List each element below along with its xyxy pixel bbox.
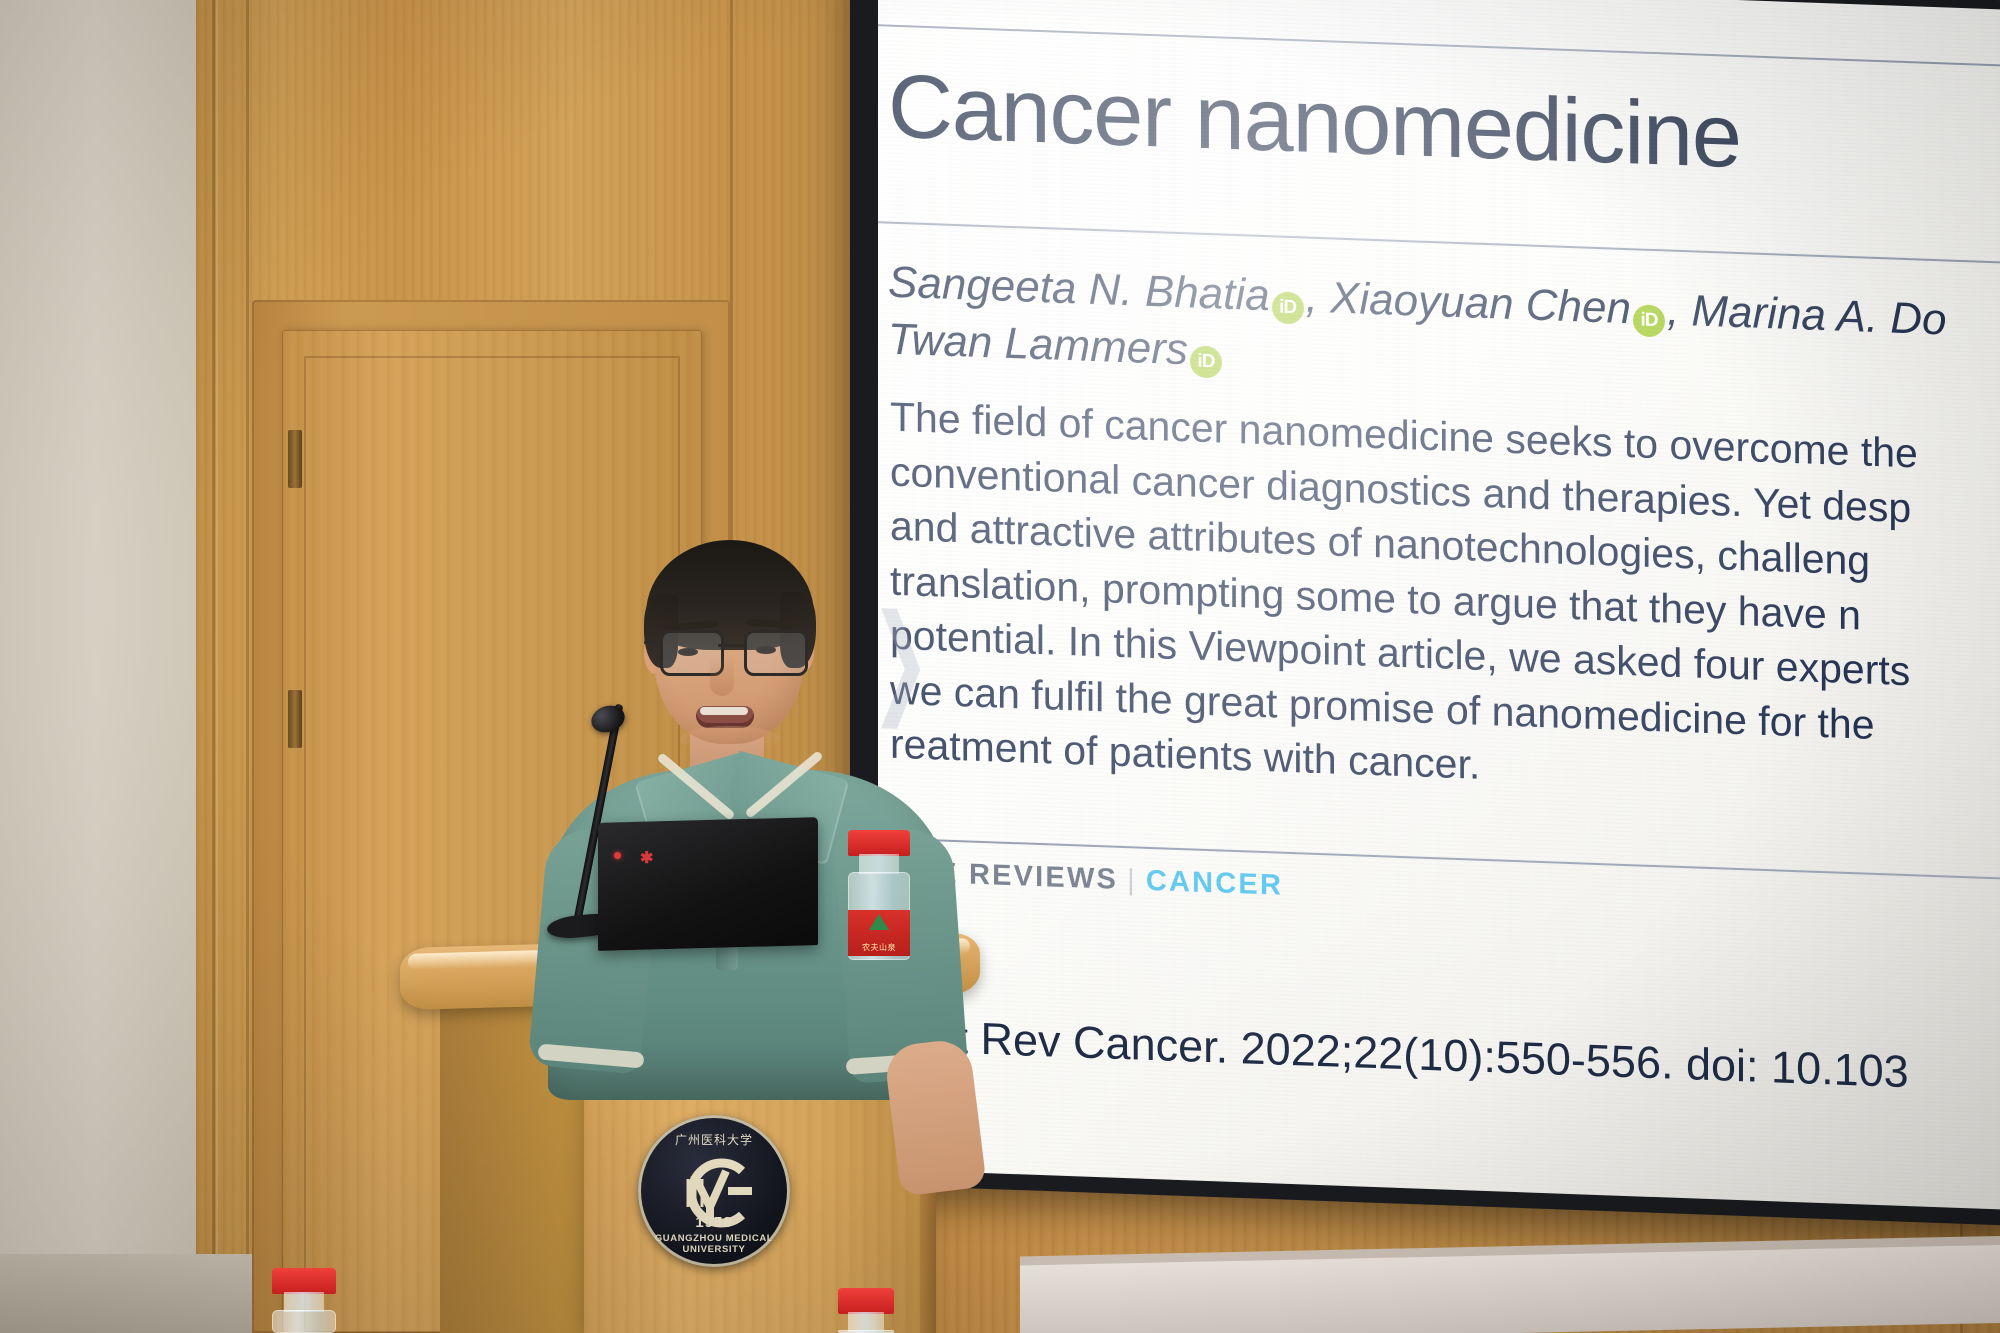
slide-abstract: The field of cancer nanomedicine seeks t… — [890, 390, 2000, 815]
bottle-cap-icon — [272, 1268, 336, 1294]
slide-citation: Nat Rev Cancer. 2022;22(10):550-556. doi… — [898, 1010, 2000, 1106]
crest-chinese-name: 广州医科大学 — [638, 1131, 790, 1148]
speaker-chin — [680, 726, 780, 752]
crest-founding-year: 1958 — [638, 1214, 790, 1231]
author-name-4: Twan Lammers — [888, 315, 1188, 375]
laptop-indicator-dot-icon — [614, 852, 621, 859]
projection-screen-surface: Cancer nanomedicine Sangeeta N. BhatiaiD… — [878, 0, 2000, 1211]
orcid-icon-3[interactable]: iD — [1190, 346, 1222, 379]
author-name-2: , Xiaoyuan Chen — [1306, 273, 1631, 334]
bottle-mountain-icon — [869, 914, 889, 930]
laptop-screen-back[interactable] — [598, 817, 818, 951]
author-name-1: Sangeeta N. Bhatia — [888, 258, 1270, 321]
journal-name: CANCER — [1146, 865, 1283, 902]
wall-left-plaster — [0, 0, 212, 1333]
bottle-neck — [859, 854, 899, 874]
orcid-icon-2[interactable]: iD — [1633, 304, 1665, 337]
panel-seam-highlight-1 — [216, 0, 218, 1333]
speaker-nose — [710, 654, 734, 696]
slide-authors: Sangeeta N. BhatiaiD, Xiaoyuan CheniD, M… — [888, 254, 2000, 411]
bottle-cap-icon — [838, 1288, 894, 1314]
bottle-cap-icon — [848, 830, 910, 856]
panel-seam-1 — [212, 0, 215, 1333]
university-crest-logo: 广州医科大学 1958 GUANGZHOU MEDICAL UNIVERSITY — [638, 1115, 790, 1267]
panel-seam-2 — [246, 0, 249, 1333]
eyeglass-lens-right — [744, 630, 808, 676]
laptop-brand-mark-icon: ✱ — [640, 848, 653, 868]
author-name-3: , Marina A. Do — [1667, 285, 1947, 344]
crest-english-name: GUANGZHOU MEDICAL UNIVERSITY — [638, 1233, 790, 1255]
bottle-neck — [284, 1292, 325, 1312]
orcid-icon-1[interactable]: iD — [1272, 291, 1304, 324]
bottle-label-text: 农夫山泉 — [848, 942, 910, 953]
water-bottle-foreground-right[interactable] — [838, 1288, 894, 1333]
speaker-teeth — [700, 707, 748, 715]
eyeglass-bridge — [718, 644, 744, 647]
water-bottle-podium[interactable]: 农夫山泉 — [848, 830, 910, 960]
bottle-neck — [848, 1312, 884, 1332]
door-hinge-lower — [288, 690, 302, 748]
bottle-label: 农夫山泉 — [848, 910, 910, 956]
presentation-photo-scene: Cancer nanomedicine Sangeeta N. BhatiaiD… — [0, 0, 2000, 1333]
brand-separator: | — [1127, 864, 1137, 896]
journal-branding: RE REVIEWS|CANCER — [914, 857, 1283, 903]
water-bottle-foreground-left[interactable] — [272, 1268, 336, 1333]
door-hinge-upper — [288, 430, 302, 488]
slide-title: Cancer nanomedicine — [888, 62, 2000, 193]
slide-content: Cancer nanomedicine Sangeeta N. BhatiaiD… — [878, 0, 2000, 1211]
bottle-body — [272, 1310, 336, 1333]
